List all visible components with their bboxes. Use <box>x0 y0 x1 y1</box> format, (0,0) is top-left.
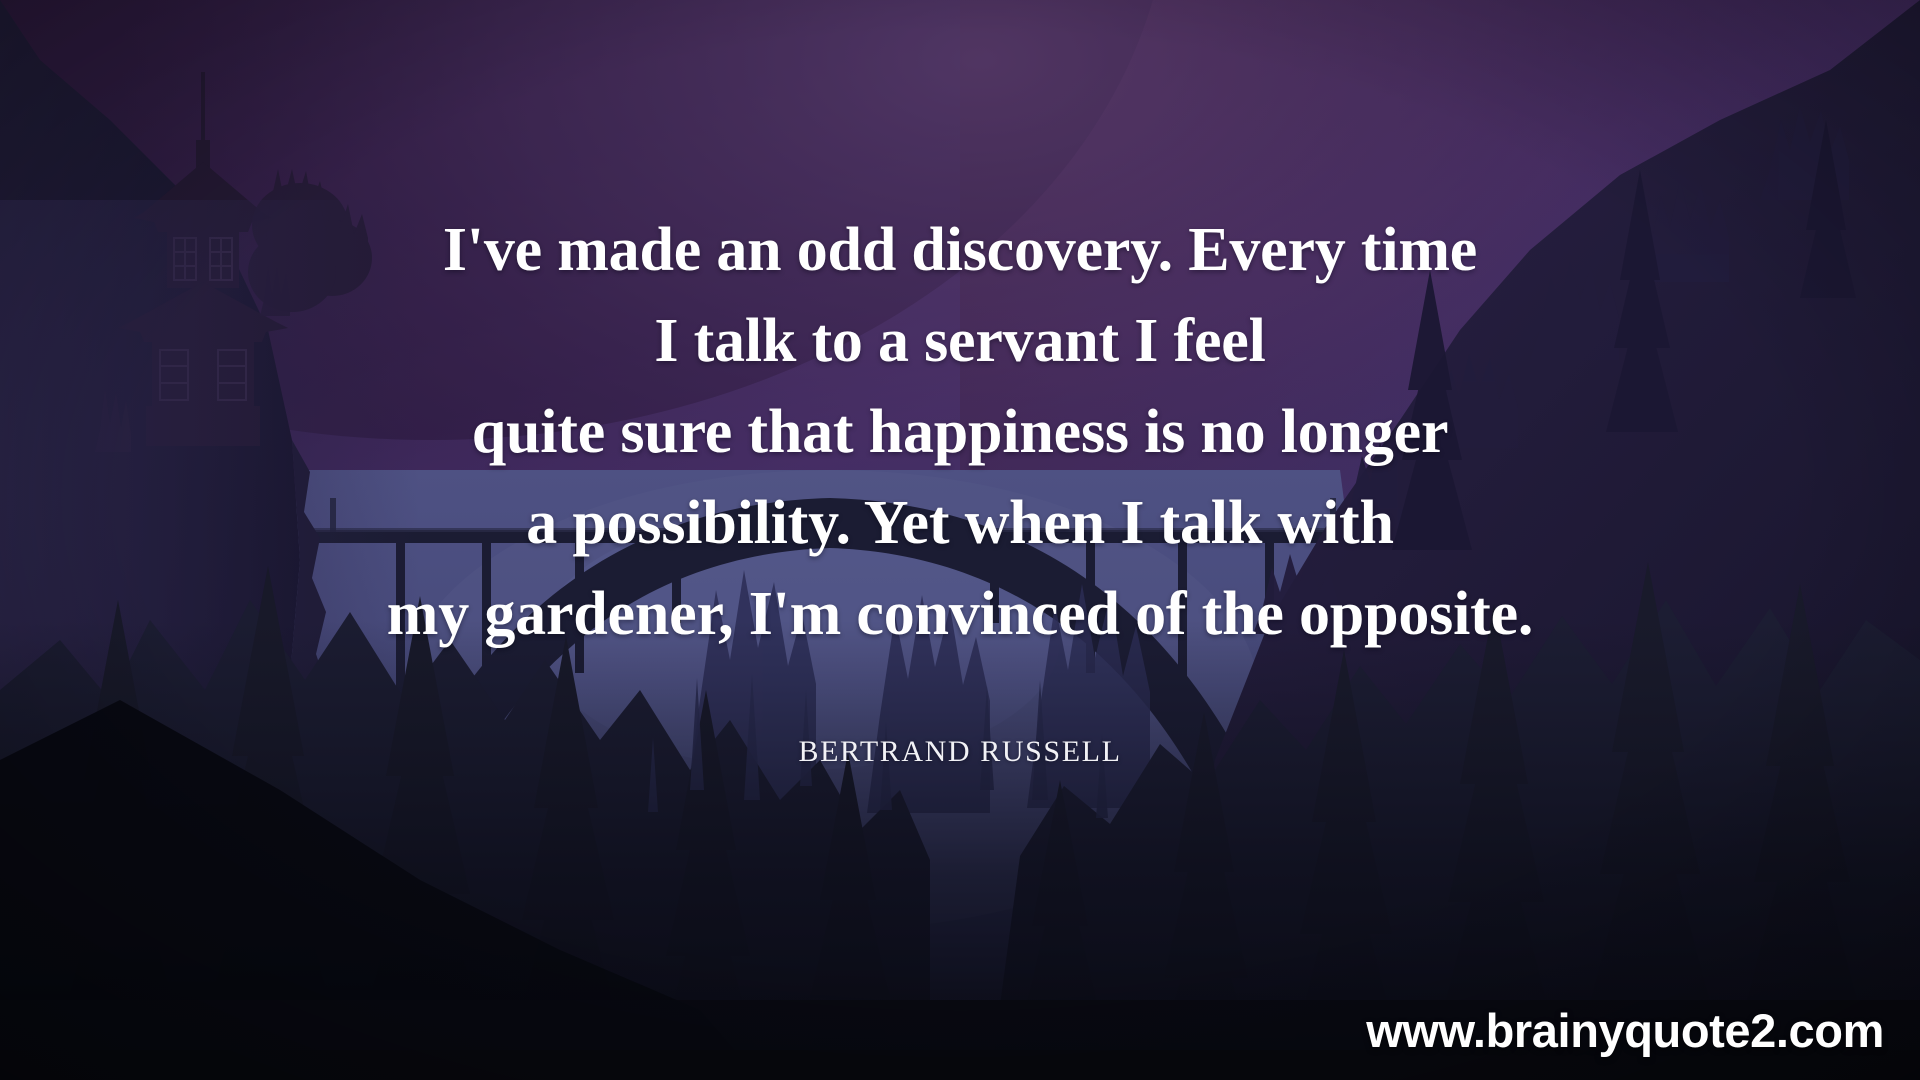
quote-overlay: I've made an odd discovery. Every time I… <box>0 0 1920 1080</box>
quote-line: a possibility. Yet when I talk with <box>90 478 1830 569</box>
quote-line: I've made an odd discovery. Every time <box>90 205 1830 296</box>
site-watermark: www.brainyquote2.com <box>1366 1003 1884 1058</box>
quote-line: quite sure that happiness is no longer <box>90 387 1830 478</box>
quote-author: BERTRAND RUSSELL <box>0 735 1920 769</box>
quote-text: I've made an odd discovery. Every time I… <box>0 205 1920 660</box>
quote-line: my gardener, I'm convinced of the opposi… <box>90 569 1830 660</box>
quote-image-canvas: I've made an odd discovery. Every time I… <box>0 0 1920 1080</box>
quote-line: I talk to a servant I feel <box>90 296 1830 387</box>
